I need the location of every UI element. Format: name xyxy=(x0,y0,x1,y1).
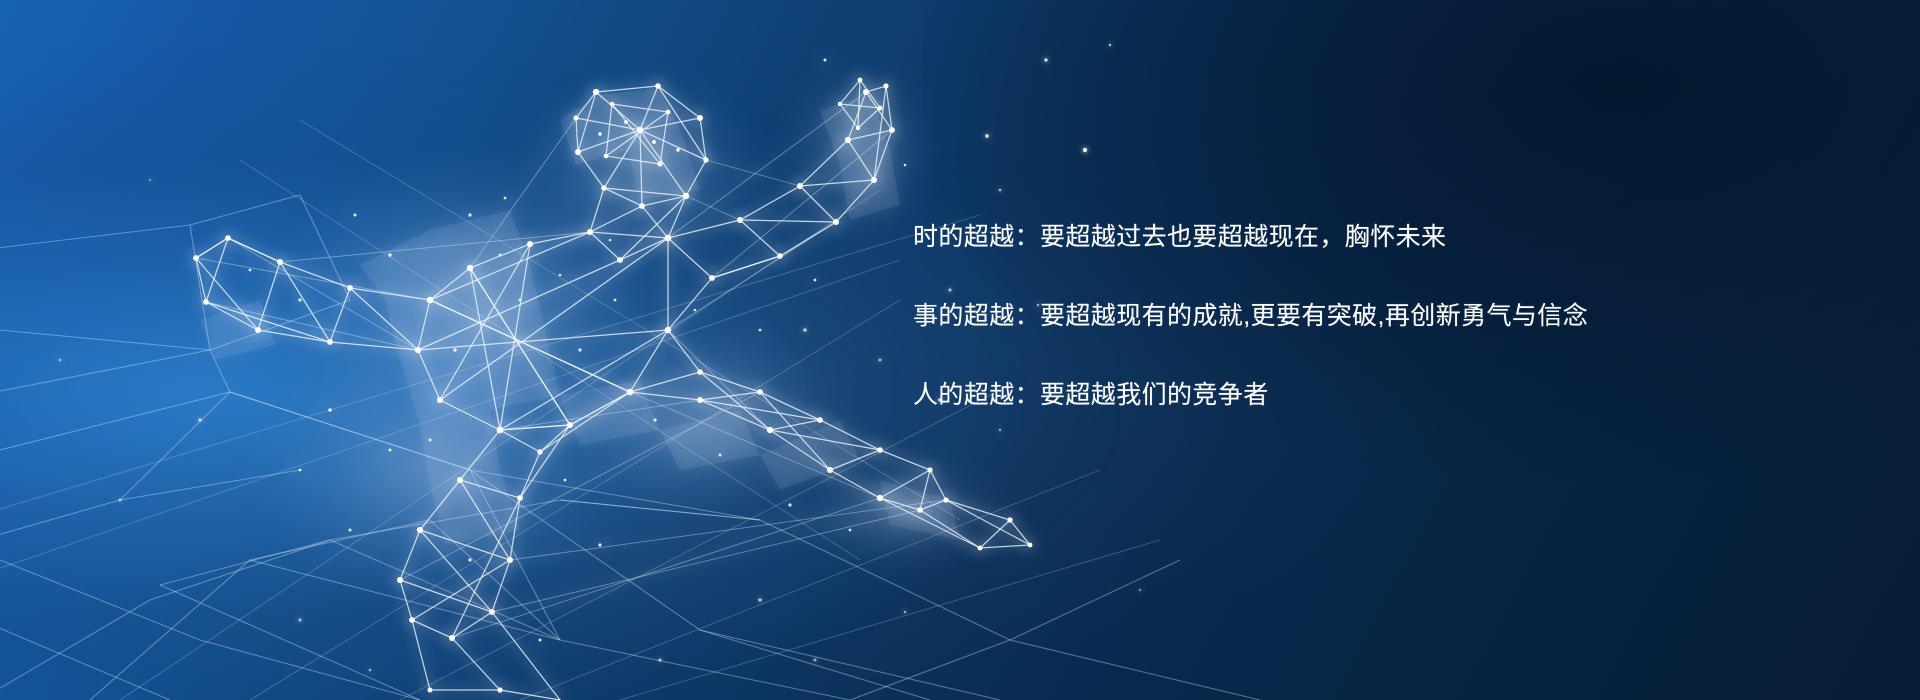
tagline-matter: 事的超越：要超越现有的成就,更要有突破,再创新勇气与信念 xyxy=(913,304,1813,329)
hero-banner: 时的超越：要超越过去也要超越现在，胸怀未来 事的超越：要超越现有的成就,更要有突… xyxy=(0,0,1920,700)
tagline-block: 时的超越：要超越过去也要超越现在，胸怀未来 事的超越：要超越现有的成就,更要有突… xyxy=(913,225,1813,408)
tagline-time: 时的超越：要超越过去也要超越现在，胸怀未来 xyxy=(913,225,1813,250)
tagline-people: 人的超越：要超越我们的竞争者 xyxy=(913,383,1813,408)
